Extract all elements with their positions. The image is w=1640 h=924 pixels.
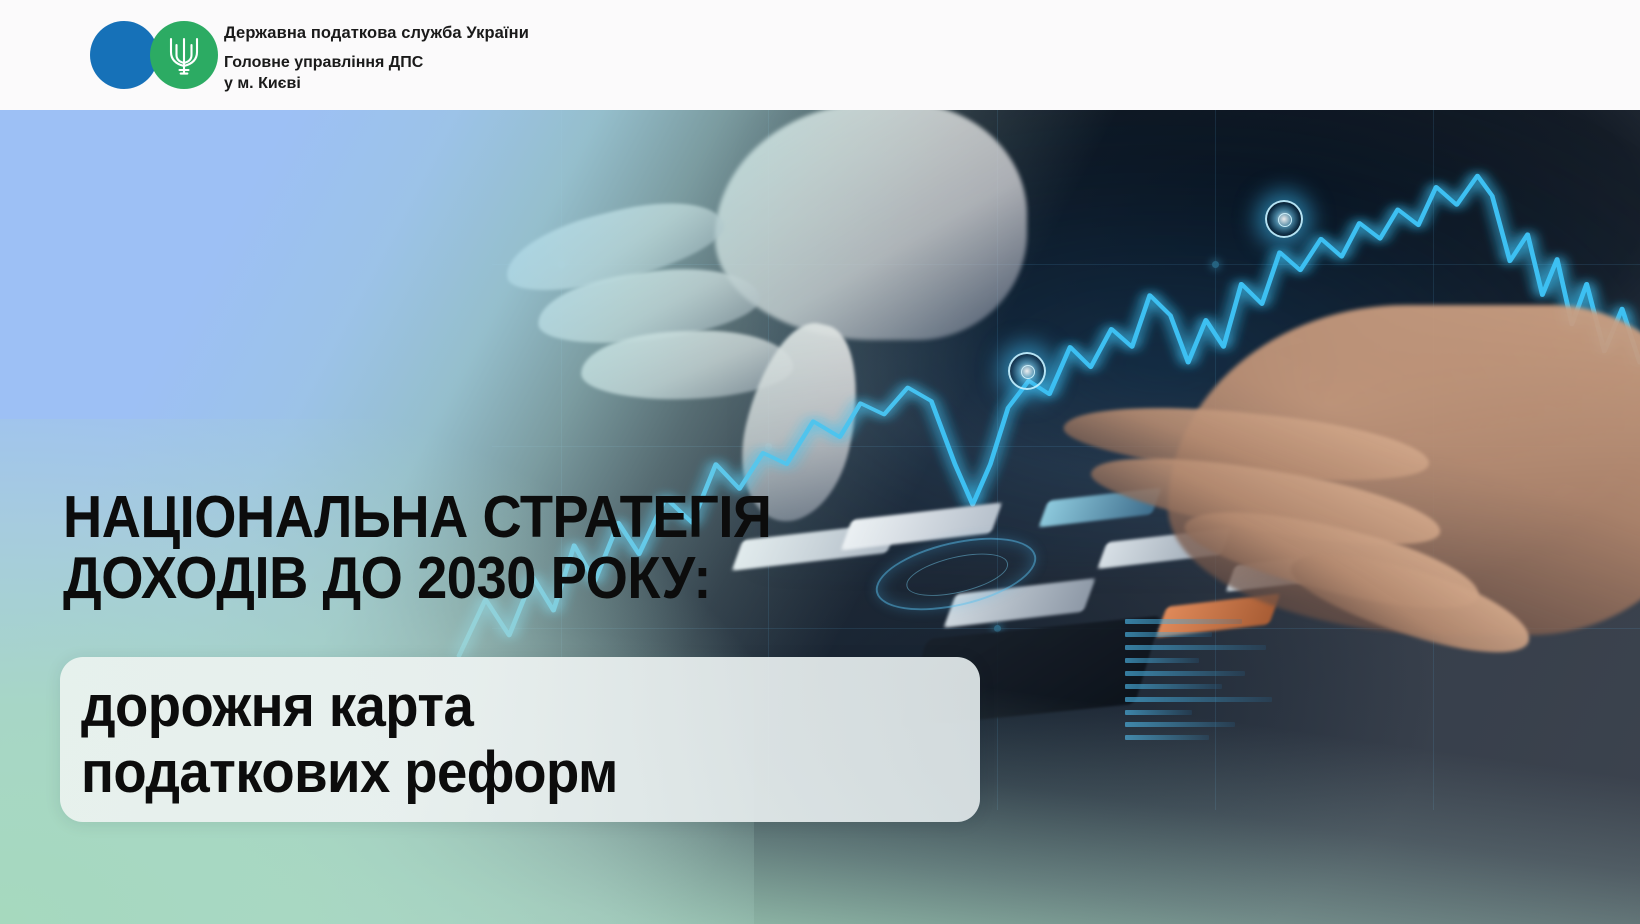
site-header: Державна податкова служба України Головн… [0,0,1640,110]
subtitle-panel: дорожня карта податкових реформ [60,657,980,822]
banner-page: Державна податкова служба України Головн… [0,0,1640,924]
hero-headline: НАЦІОНАЛЬНА СТРАТЕГІЯ ДОХОДІВ ДО 2030 РО… [63,487,772,610]
organization-name: Державна податкова служба України [224,24,529,42]
brand-text-block: Державна податкова служба України Головн… [224,13,529,94]
hero-banner: НАЦІОНАЛЬНА СТРАТЕГІЯ ДОХОДІВ ДО 2030 РО… [0,110,1640,924]
hero-subtitle: дорожня карта податкових реформ [81,674,618,805]
ukraine-tryzub-icon [167,35,201,77]
blue-circle-icon [90,21,158,89]
organization-unit: Головне управління ДПС у м. Києві [224,52,529,94]
brand-block[interactable]: Державна податкова служба України Головн… [90,13,529,97]
logo-marks [90,13,220,97]
